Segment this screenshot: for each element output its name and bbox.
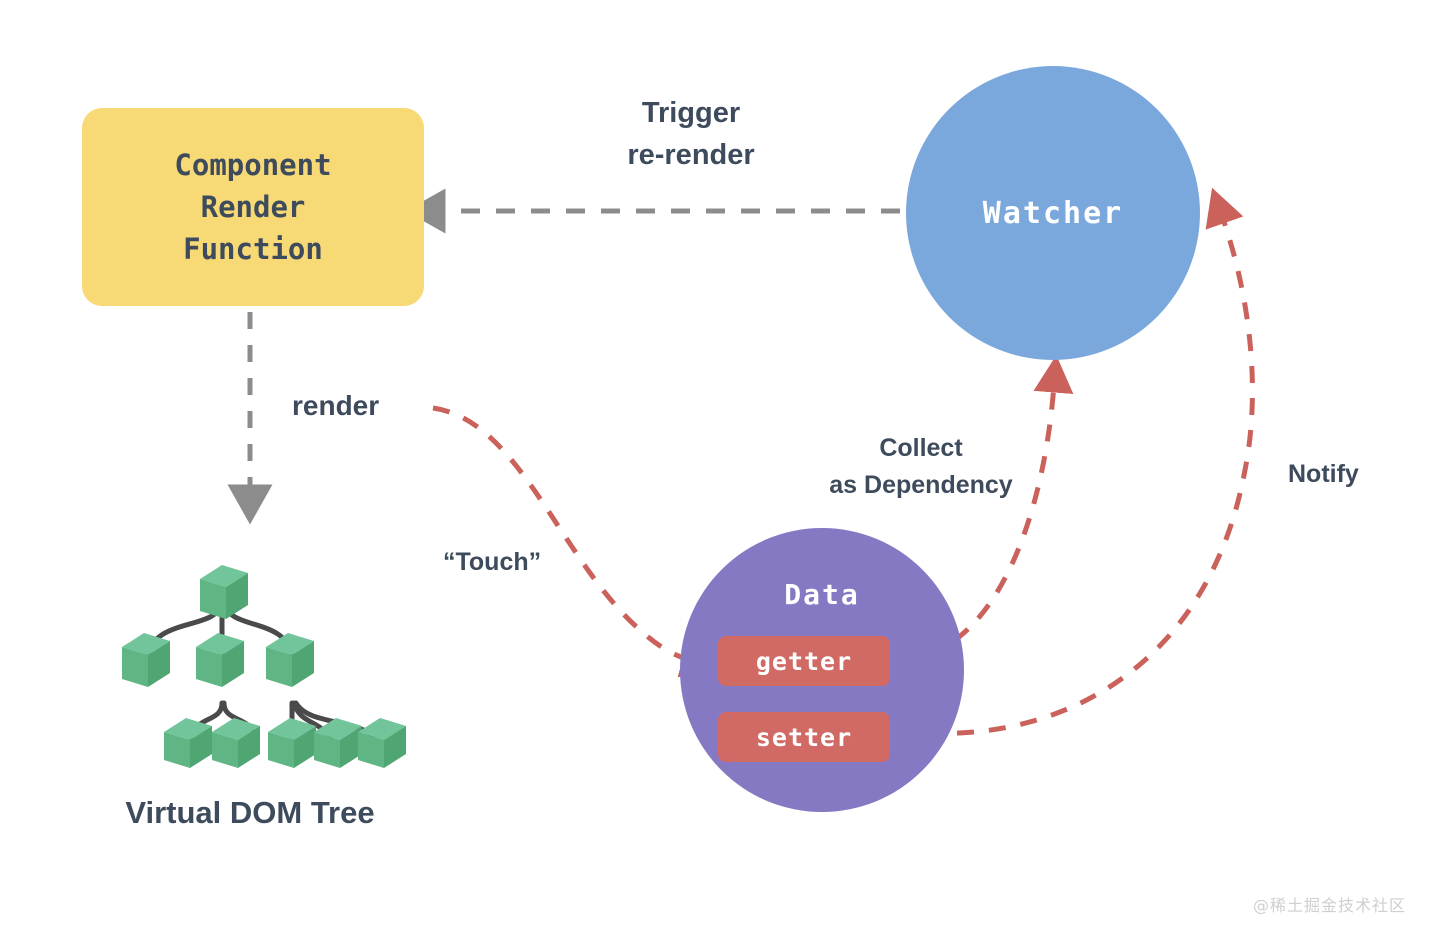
watcher-label: Watcher: [983, 196, 1123, 231]
vdom-cubes: [122, 565, 406, 768]
vdom-cube-l2-c: [266, 633, 314, 687]
watermark: @稀土掘金技术社区: [1253, 892, 1406, 916]
virtual-dom-tree-graphic: [100, 555, 410, 770]
diagram-canvas: Component Render Function Watcher Data g…: [0, 0, 1430, 938]
vdom-cube-l3-a: [164, 718, 212, 768]
vdom-cube-l3-e: [358, 718, 406, 768]
vdom-cube-l2-b: [196, 633, 244, 687]
vdom-cube-root: [200, 565, 248, 619]
data-label: Data: [680, 578, 964, 611]
edge-label-notify: Notify: [1288, 460, 1359, 489]
vdom-cube-l2-a: [122, 633, 170, 687]
component-render-function-node[interactable]: Component Render Function: [82, 108, 424, 306]
edge-label-collect-as-dependency: Collect as Dependency: [790, 430, 1052, 504]
edge-label-touch: “Touch”: [443, 548, 541, 577]
virtual-dom-tree-caption: Virtual DOM Tree: [60, 795, 440, 831]
edge-label-trigger-re-render: Trigger re-render: [555, 92, 827, 176]
edge-collect-as-dependency: [955, 385, 1054, 640]
edge-touch: [433, 408, 690, 660]
component-render-function-label: Component Render Function: [174, 144, 331, 270]
watcher-node[interactable]: Watcher: [906, 66, 1200, 360]
data-node[interactable]: Data getter setter: [680, 528, 964, 812]
vdom-cube-l3-c: [268, 718, 316, 768]
setter-box[interactable]: setter: [718, 712, 890, 762]
vdom-cube-l3-b: [212, 718, 260, 768]
edge-label-render: render: [292, 390, 379, 422]
getter-box[interactable]: getter: [718, 636, 890, 686]
